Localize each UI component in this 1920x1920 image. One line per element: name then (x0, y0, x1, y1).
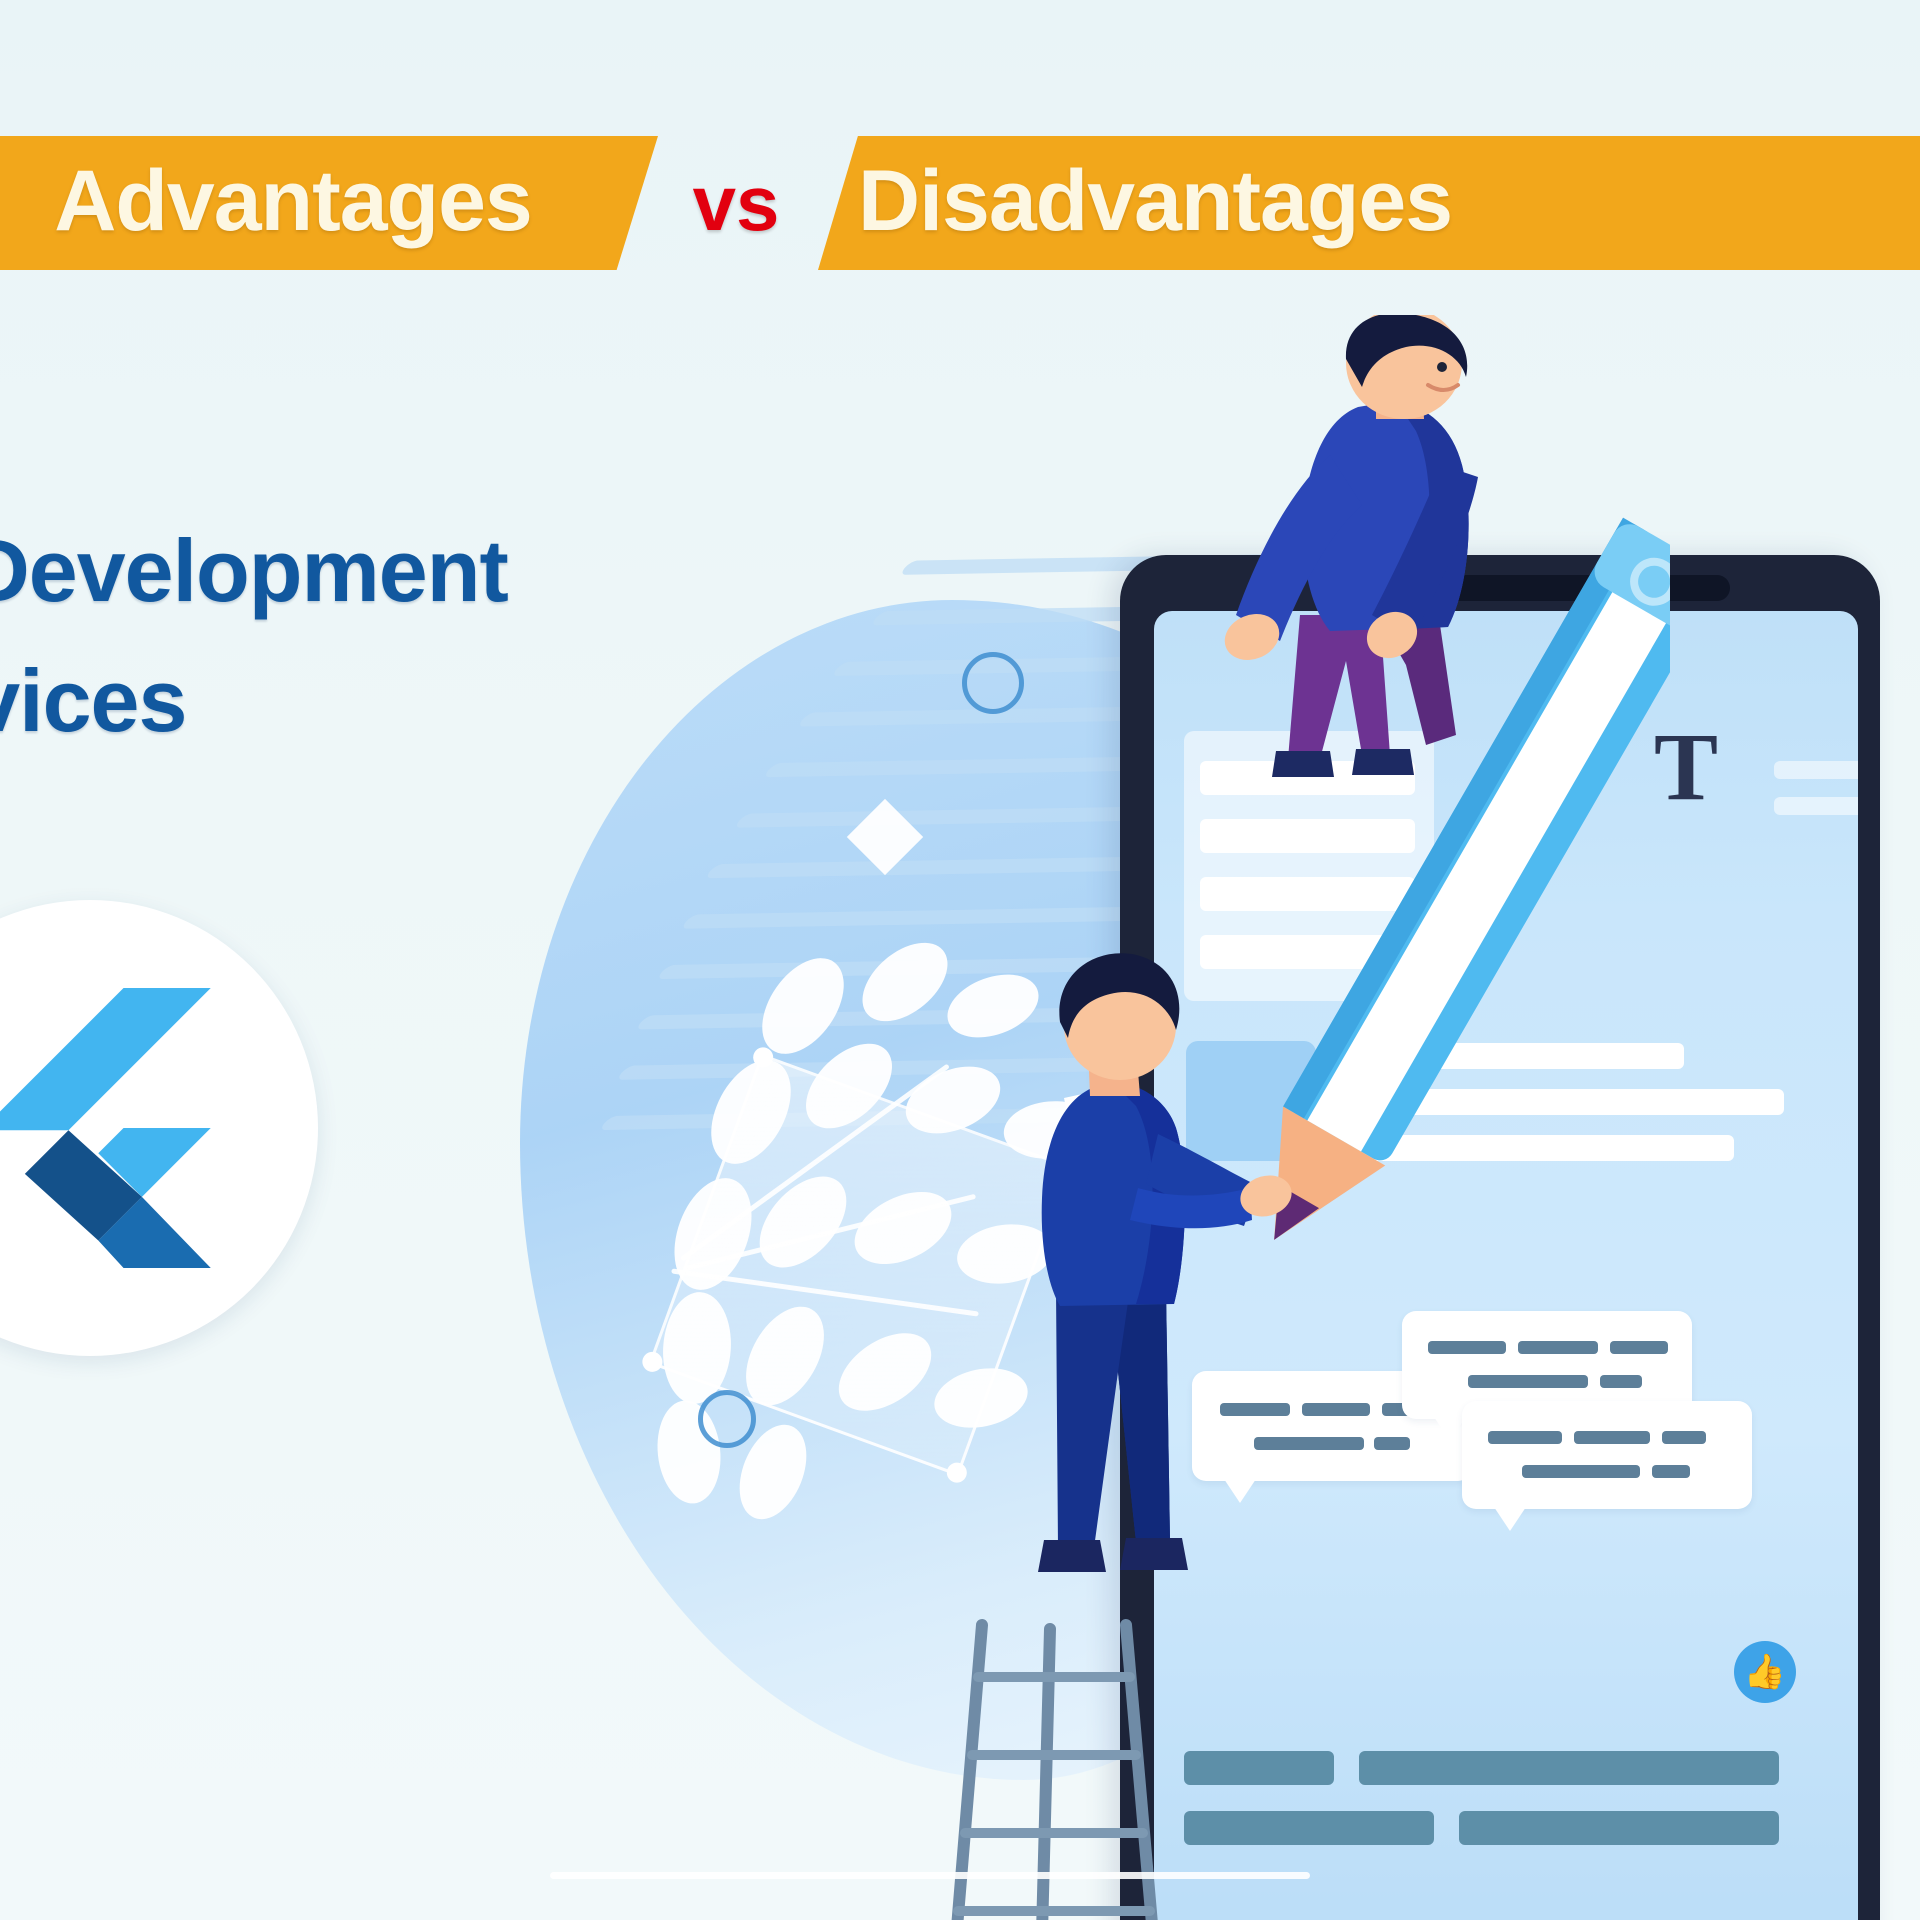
pencil-prop (1250, 480, 1670, 1360)
disadvantages-label: Disadvantages (858, 158, 1452, 244)
advantages-ribbon: Advantages (0, 136, 658, 270)
hero-illustration: T (460, 300, 1920, 1920)
screen-bar (1774, 761, 1858, 779)
flutter-logo-icon (0, 988, 211, 1268)
chat-bubble (1462, 1401, 1752, 1509)
advantages-label: Advantages (54, 158, 532, 244)
ground-line (550, 1872, 1310, 1879)
screen-footer-bar (1184, 1811, 1434, 1845)
vs-label: vs (672, 136, 800, 270)
comparison-banner: Advantages Disadvantages (0, 136, 1920, 270)
flutter-logo-badge (0, 900, 318, 1356)
screen-footer-bar (1184, 1751, 1334, 1785)
screen-footer-bar (1359, 1751, 1779, 1785)
screen-footer-bar (1459, 1811, 1779, 1845)
banner-canvas: Advantages Disadvantages vs p Developmen… (0, 0, 1920, 1920)
ring-decor-bottom (698, 1390, 756, 1448)
thumbs-up-icon: 👍 (1734, 1641, 1796, 1703)
disadvantages-ribbon: Disadvantages (818, 136, 1920, 270)
ring-decor-top (962, 652, 1024, 714)
screen-bar (1774, 797, 1858, 815)
person-standing-on-ladder (960, 920, 1300, 1680)
